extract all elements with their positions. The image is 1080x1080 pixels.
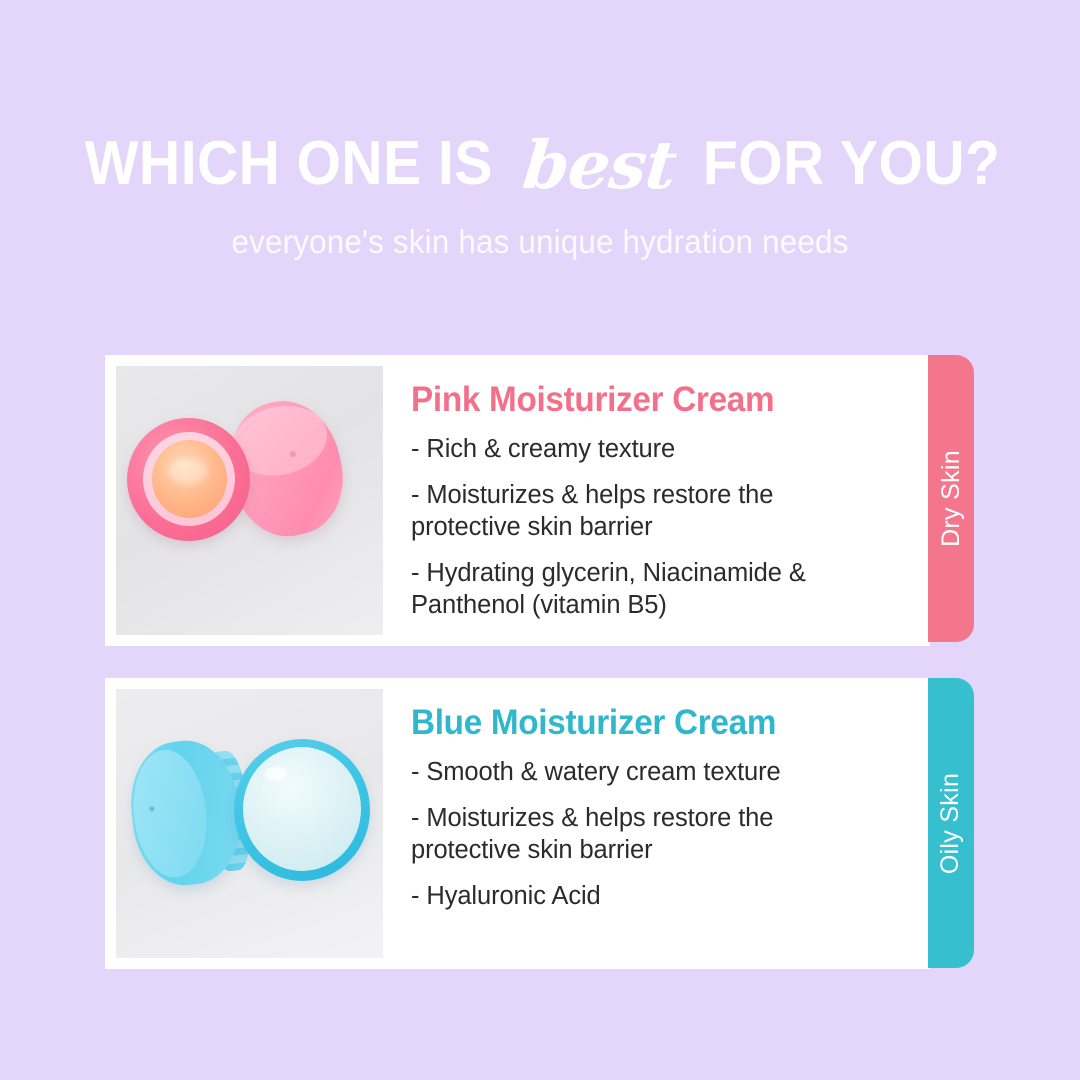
blue-jar-body-icon <box>234 739 370 881</box>
skin-type-tab-oily[interactable]: Oily Skin <box>928 678 974 968</box>
product-bullet: - Hydrating glycerin, Niacinamide & Pant… <box>411 558 881 622</box>
header: WHICH ONE IS best FOR YOU? everyone's sk… <box>0 0 1080 261</box>
product-title-pink: Pink Moisturizer Cream <box>411 380 894 420</box>
product-bullet: - Hyaluronic Acid <box>411 881 881 913</box>
page-subtitle: everyone's skin has unique hydration nee… <box>27 223 1053 261</box>
product-bullet: - Smooth & watery cream texture <box>411 757 881 789</box>
pink-jar-body-icon <box>127 418 250 541</box>
headline-text-trailing: FOR YOU? <box>703 133 1000 195</box>
skin-type-tab-label: Dry Skin <box>937 450 966 547</box>
skin-type-tab-dry[interactable]: Dry Skin <box>928 355 974 642</box>
headline-script-word: best <box>506 132 693 198</box>
headline-text-leading: WHICH ONE IS <box>85 133 493 195</box>
product-title-blue: Blue Moisturizer Cream <box>411 703 894 743</box>
blue-moisturizer-jar-photo <box>116 689 383 958</box>
product-bullet: - Moisturizes & helps restore the protec… <box>411 480 881 544</box>
skin-type-tab-label: Oily Skin <box>937 772 966 873</box>
card-body-pink: Pink Moisturizer Cream - Rich & creamy t… <box>383 366 919 621</box>
product-bullet: - Moisturizes & helps restore the protec… <box>411 803 881 867</box>
product-bullet: - Rich & creamy texture <box>411 434 881 466</box>
product-card-pink[interactable]: Pink Moisturizer Cream - Rich & creamy t… <box>105 355 930 646</box>
card-body-blue: Blue Moisturizer Cream - Smooth & watery… <box>383 689 919 913</box>
pink-moisturizer-jar-photo <box>116 366 383 635</box>
product-card-blue[interactable]: Blue Moisturizer Cream - Smooth & watery… <box>105 678 930 969</box>
page-title: WHICH ONE IS best FOR YOU? <box>0 128 1080 195</box>
